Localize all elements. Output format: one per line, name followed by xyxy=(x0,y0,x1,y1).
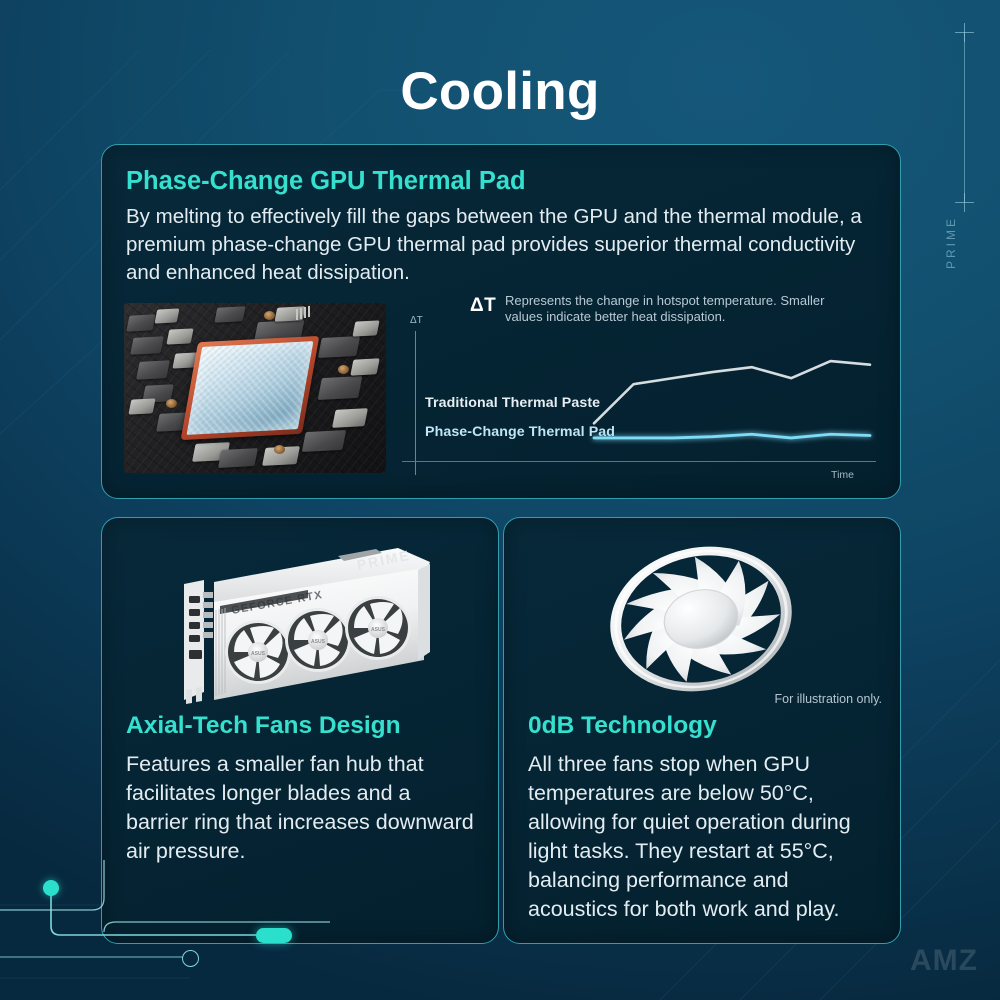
chart-plot-area xyxy=(402,303,876,475)
thermal-pad-texture xyxy=(187,341,314,435)
series-line-phase-change-pad xyxy=(594,434,870,438)
delta-t-chart: ΔT Represents the change in hotspot temp… xyxy=(402,303,876,475)
card-0db-technology: For illustration only. 0dB Technology Al… xyxy=(503,517,901,944)
crosshair-icon xyxy=(955,193,974,212)
thermal-pad-title: Phase-Change GPU Thermal Pad xyxy=(126,167,526,196)
thermal-pad-body: By melting to effectively fill the gaps … xyxy=(126,203,868,287)
svg-text:ASUS: ASUS xyxy=(251,651,266,657)
series-line-traditional-paste xyxy=(594,361,870,423)
illustration-note: For illustration only. xyxy=(775,692,882,706)
gpu-die-surface xyxy=(187,341,314,435)
graphics-card-photo: PRIME GEFORCE RTX xyxy=(162,540,442,715)
watermark: AMZ xyxy=(910,944,978,978)
cooling-infographic-page: PRIME Cooling Phase-Change GPU Thermal P… xyxy=(0,0,1000,1000)
svg-text:ASUS: ASUS xyxy=(371,627,386,633)
trace-ring-node xyxy=(182,950,199,967)
card-phase-change-thermal-pad: Phase-Change GPU Thermal Pad By melting … xyxy=(101,144,901,499)
trace-node-dot xyxy=(43,880,59,896)
page-title: Cooling xyxy=(0,61,1000,122)
crosshair-icon xyxy=(955,23,974,42)
axial-fans-title: Axial-Tech Fans Design xyxy=(126,712,401,740)
die-copper-frame xyxy=(181,336,320,440)
zero-db-title: 0dB Technology xyxy=(528,712,717,740)
side-rail: PRIME xyxy=(947,18,983,288)
gpu-die-photo xyxy=(124,303,386,473)
zero-db-body: All three fans stop when GPU temperature… xyxy=(528,750,880,924)
card-axial-tech-fans: PRIME GEFORCE RTX xyxy=(101,517,499,944)
svg-text:ASUS: ASUS xyxy=(311,639,326,645)
rail-brand-label: PRIME xyxy=(944,216,988,269)
axial-fan-photo xyxy=(586,534,816,704)
axial-fans-body: Features a smaller fan hub that facilita… xyxy=(126,750,474,866)
